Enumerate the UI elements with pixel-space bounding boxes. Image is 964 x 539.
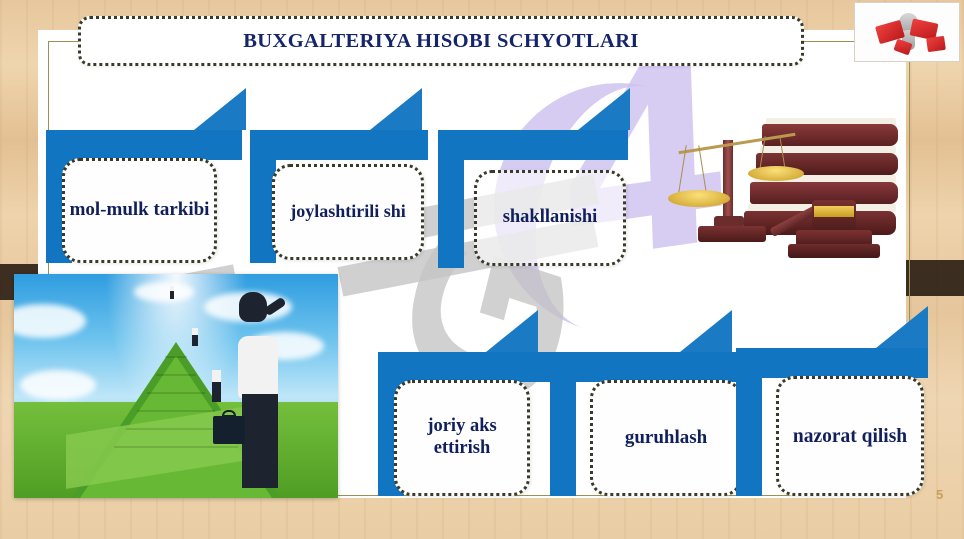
node-nazorat-qilish[interactable]: nazorat qilish [736,306,946,496]
slide-title-plate: BUXGALTERIYA HISOBI SCHYOTLARI [78,16,804,66]
flag-triangle-icon [876,306,928,348]
flag-triangle-icon [370,88,422,130]
page-number: 5 [936,487,943,502]
node-joylashtirilishi[interactable]: joylashtirili shi [250,88,450,263]
mascot-logo-icon [854,2,960,62]
flag-triangle-icon [194,88,246,130]
stairs-climbers-image [14,274,338,498]
node-label: shakllanishi [474,170,626,266]
node-mol-mulk-tarkibi[interactable]: mol-mulk tarkibi [46,88,246,263]
flag-triangle-icon [486,310,538,352]
node-label: mol-mulk tarkibi [62,158,217,263]
banner-top-bar [736,348,928,378]
flag-triangle-icon [680,310,732,352]
node-label: joriy aks ettirish [394,380,530,496]
node-joriy-aks-ettirish[interactable]: joriy aks ettirish [378,310,578,496]
node-shakllanishi[interactable]: shakllanishi [438,88,638,268]
banner-left-bar [438,130,464,268]
banner-top-bar [378,352,560,382]
banner-top-bar [46,130,242,160]
banner-left-bar [550,352,576,496]
banner-top-bar [438,130,628,160]
banner-top-bar [250,130,428,160]
flag-triangle-icon [578,88,630,130]
node-label: nazorat qilish [776,376,924,496]
node-label: guruhlash [590,380,742,496]
node-label: joylashtirili shi [272,164,424,260]
page-title: BUXGALTERIYA HISOBI SCHYOTLARI [243,30,639,53]
node-guruhlash[interactable]: guruhlash [550,310,750,496]
banner-left-bar [736,348,762,496]
justice-scales-image [662,104,912,268]
banner-top-bar [550,352,740,382]
